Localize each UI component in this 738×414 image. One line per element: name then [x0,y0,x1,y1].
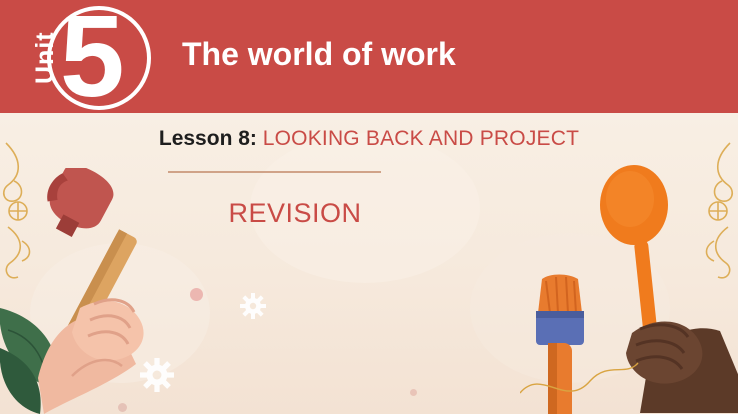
unit-number: 5 [60,0,123,113]
slide-root: Unit 5 The world of work [0,0,738,414]
lesson-name: LOOKING BACK AND PROJECT [263,127,579,150]
header-band: Unit 5 The world of work [0,0,738,113]
lesson-label: Lesson 8: [159,127,257,150]
page-title: The world of work [182,36,456,73]
lesson-heading: Lesson 8: LOOKING BACK AND PROJECT [0,127,738,151]
hand-holding-hammer [10,168,240,414]
gear-icon-large [240,293,266,324]
body-area: Lesson 8: LOOKING BACK AND PROJECT REVIS… [0,113,738,414]
dot-accent [410,389,417,396]
squiggle-line [520,353,640,414]
